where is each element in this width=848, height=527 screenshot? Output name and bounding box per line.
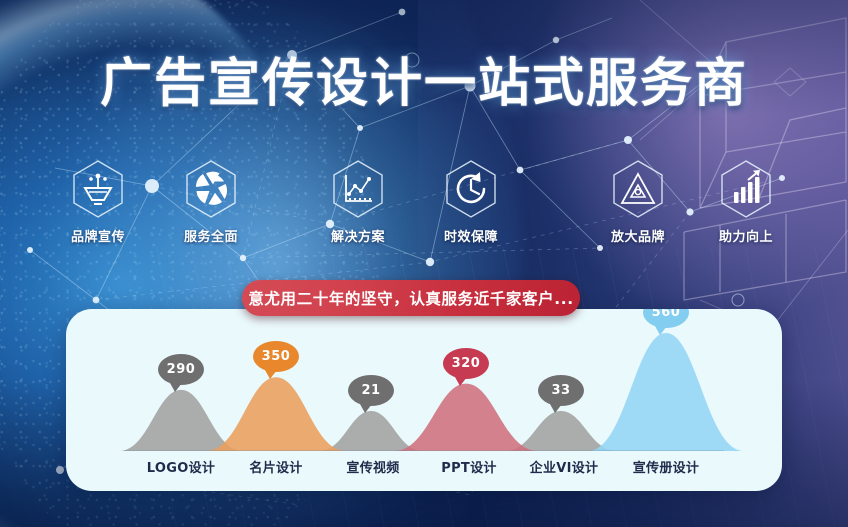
feature-item-brand-promotion[interactable]: 品牌宣传 (48, 158, 148, 245)
aperture-hex-icon (180, 158, 242, 220)
feature-item-solutions[interactable]: 解决方案 (308, 158, 408, 245)
category-label: 企业VI设计 (509, 457, 619, 476)
feature-row: 品牌宣传 服务全面 (0, 158, 848, 250)
feature-label: 放大品牌 (588, 226, 688, 245)
clock-hex-icon (440, 158, 502, 220)
category-label: PPT设计 (414, 457, 524, 476)
category-label: 宣传册设计 (611, 457, 721, 476)
baseline-axis (124, 450, 724, 451)
feature-item-amplify-brand[interactable]: 放大品牌 (588, 158, 688, 245)
poster-canvas: 广告宣传设计一站式服务商 品牌宣传 (0, 0, 848, 527)
megaphone-hex-icon (67, 158, 129, 220)
pyramid-hex-icon (607, 158, 669, 220)
chart-panel: 290 350 21 320 33 560 LOGO设计 名片设计 宣传视频 P… (66, 309, 782, 491)
bar-growth-hex-icon (715, 158, 777, 220)
feature-item-growth-support[interactable]: 助力向上 (696, 158, 796, 245)
page-title: 广告宣传设计一站式服务商 (0, 58, 848, 110)
value-bubble: 290 (158, 354, 204, 385)
category-label: 名片设计 (221, 457, 331, 476)
feature-label: 解决方案 (308, 226, 408, 245)
feature-label: 助力向上 (696, 226, 796, 245)
promo-banner: 意尤用二十年的坚守，认真服务近千家客户... (242, 280, 580, 316)
feature-item-full-service[interactable]: 服务全面 (161, 158, 261, 245)
value-bubble: 21 (348, 375, 394, 406)
category-axis: LOGO设计 名片设计 宣传视频 PPT设计 企业VI设计 宣传册设计 (66, 457, 782, 479)
chart-hex-icon (327, 158, 389, 220)
value-bubble: 320 (443, 348, 489, 379)
value-bubble: 33 (538, 375, 584, 406)
feature-label: 服务全面 (161, 226, 261, 245)
category-label: 宣传视频 (318, 457, 428, 476)
category-label: LOGO设计 (126, 457, 236, 476)
feature-label: 品牌宣传 (48, 226, 148, 245)
feature-label: 时效保障 (421, 226, 521, 245)
bell-curve-chart: 290 350 21 320 33 560 LOGO设计 名片设计 宣传视频 P… (66, 309, 782, 491)
feature-item-timeliness[interactable]: 时效保障 (421, 158, 521, 245)
